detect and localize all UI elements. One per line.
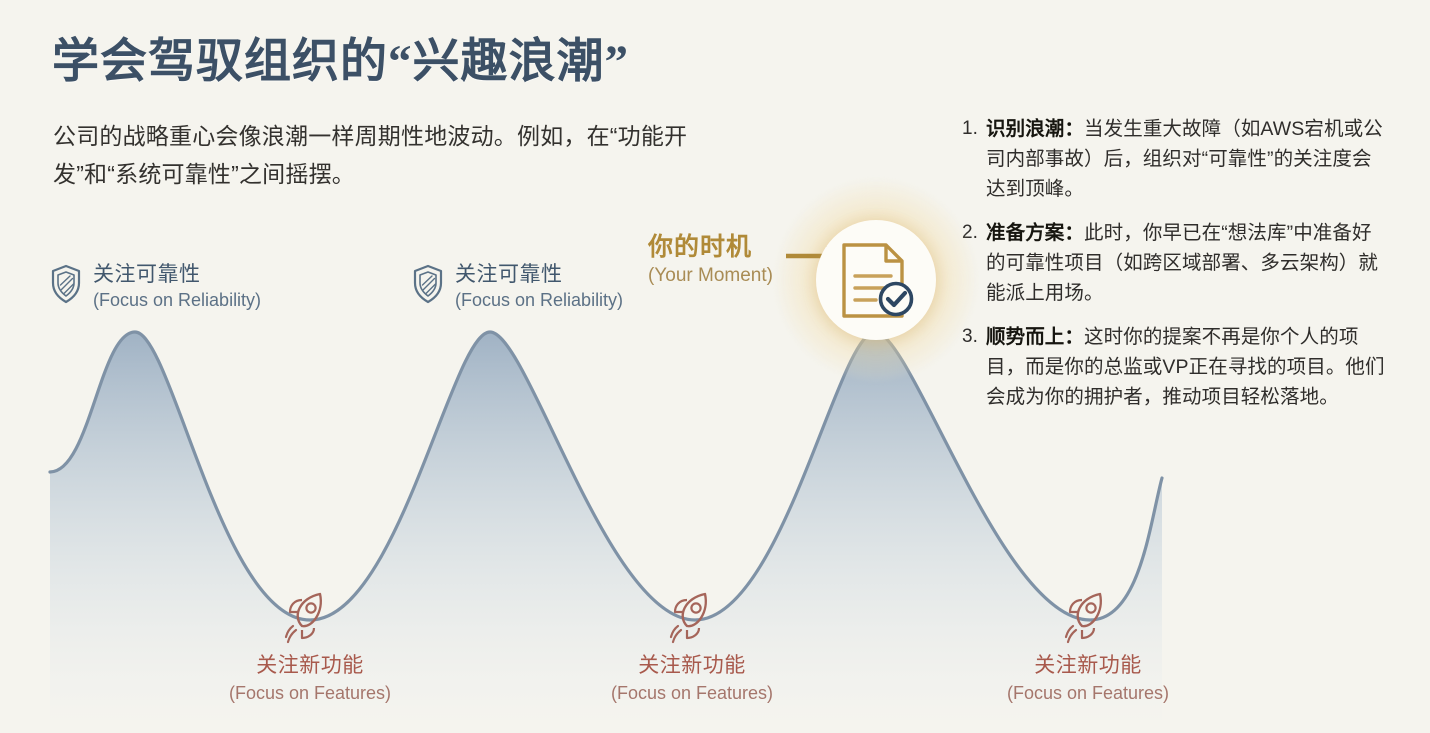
list-item: 2. 准备方案：此时，你早已在“想法库”中准备好的可靠性项目（如跨区域部署、多云… [962,218,1387,308]
list-item: 1. 识别浪潮：当发生重大故障（如AWS宕机或公司内部事故）后，组织对“可靠性”… [962,114,1387,204]
moment-label-en: (Your Moment) [648,263,773,289]
shield-icon [412,264,444,309]
peak-label-text: 关注可靠性 (Focus on Reliability) [93,262,261,313]
peak-label-en: (Focus on Reliability) [455,290,623,310]
trough-label-cn: 关注新功能 [572,652,812,680]
peak-label-2: 关注可靠性 (Focus on Reliability) [412,262,623,313]
peak-label-text: 关注可靠性 (Focus on Reliability) [455,262,623,313]
trough-label-en: (Focus on Features) [190,680,430,706]
rocket-icon [278,588,340,655]
peak-label-en: (Focus on Reliability) [93,290,261,310]
trough-label-1: 关注新功能 (Focus on Features) [190,652,430,706]
document-check-icon [838,240,918,327]
wave-chart: 关注可靠性 (Focus on Reliability) 关注可靠性 (Focu… [0,300,1250,720]
step-number: 1. [962,114,986,144]
step-title: 识别浪潮： [986,118,1084,140]
step-body: 识别浪潮：当发生重大故障（如AWS宕机或公司内部事故）后，组织对“可靠性”的关注… [986,114,1387,204]
peak-label-1: 关注可靠性 (Focus on Reliability) [50,262,261,313]
rocket-icon [663,588,725,655]
shield-icon [50,264,82,309]
moment-label: 你的时机 (Your Moment) [648,232,773,289]
trough-label-en: (Focus on Features) [968,680,1208,706]
moment-label-cn: 你的时机 [648,232,773,263]
peak-label-cn: 关注可靠性 [455,263,563,286]
rocket-icon [1058,588,1120,655]
step-body: 准备方案：此时，你早已在“想法库”中准备好的可靠性项目（如跨区域部署、多云架构）… [986,218,1387,308]
trough-label-cn: 关注新功能 [968,652,1208,680]
infographic-page: 学会驾驭组织的“兴趣浪潮” 公司的战略重心会像浪潮一样周期性地波动。例如，在“功… [0,0,1430,733]
step-title: 准备方案： [986,222,1084,244]
trough-label-en: (Focus on Features) [572,680,812,706]
peak-label-cn: 关注可靠性 [93,263,201,286]
page-subtitle: 公司的战略重心会像浪潮一样周期性地波动。例如，在“功能开发”和“系统可靠性”之间… [53,117,753,193]
page-title: 学会驾驭组织的“兴趣浪潮” [52,22,629,91]
trough-label-3: 关注新功能 (Focus on Features) [968,652,1208,706]
trough-label-2: 关注新功能 (Focus on Features) [572,652,812,706]
trough-label-cn: 关注新功能 [190,652,430,680]
